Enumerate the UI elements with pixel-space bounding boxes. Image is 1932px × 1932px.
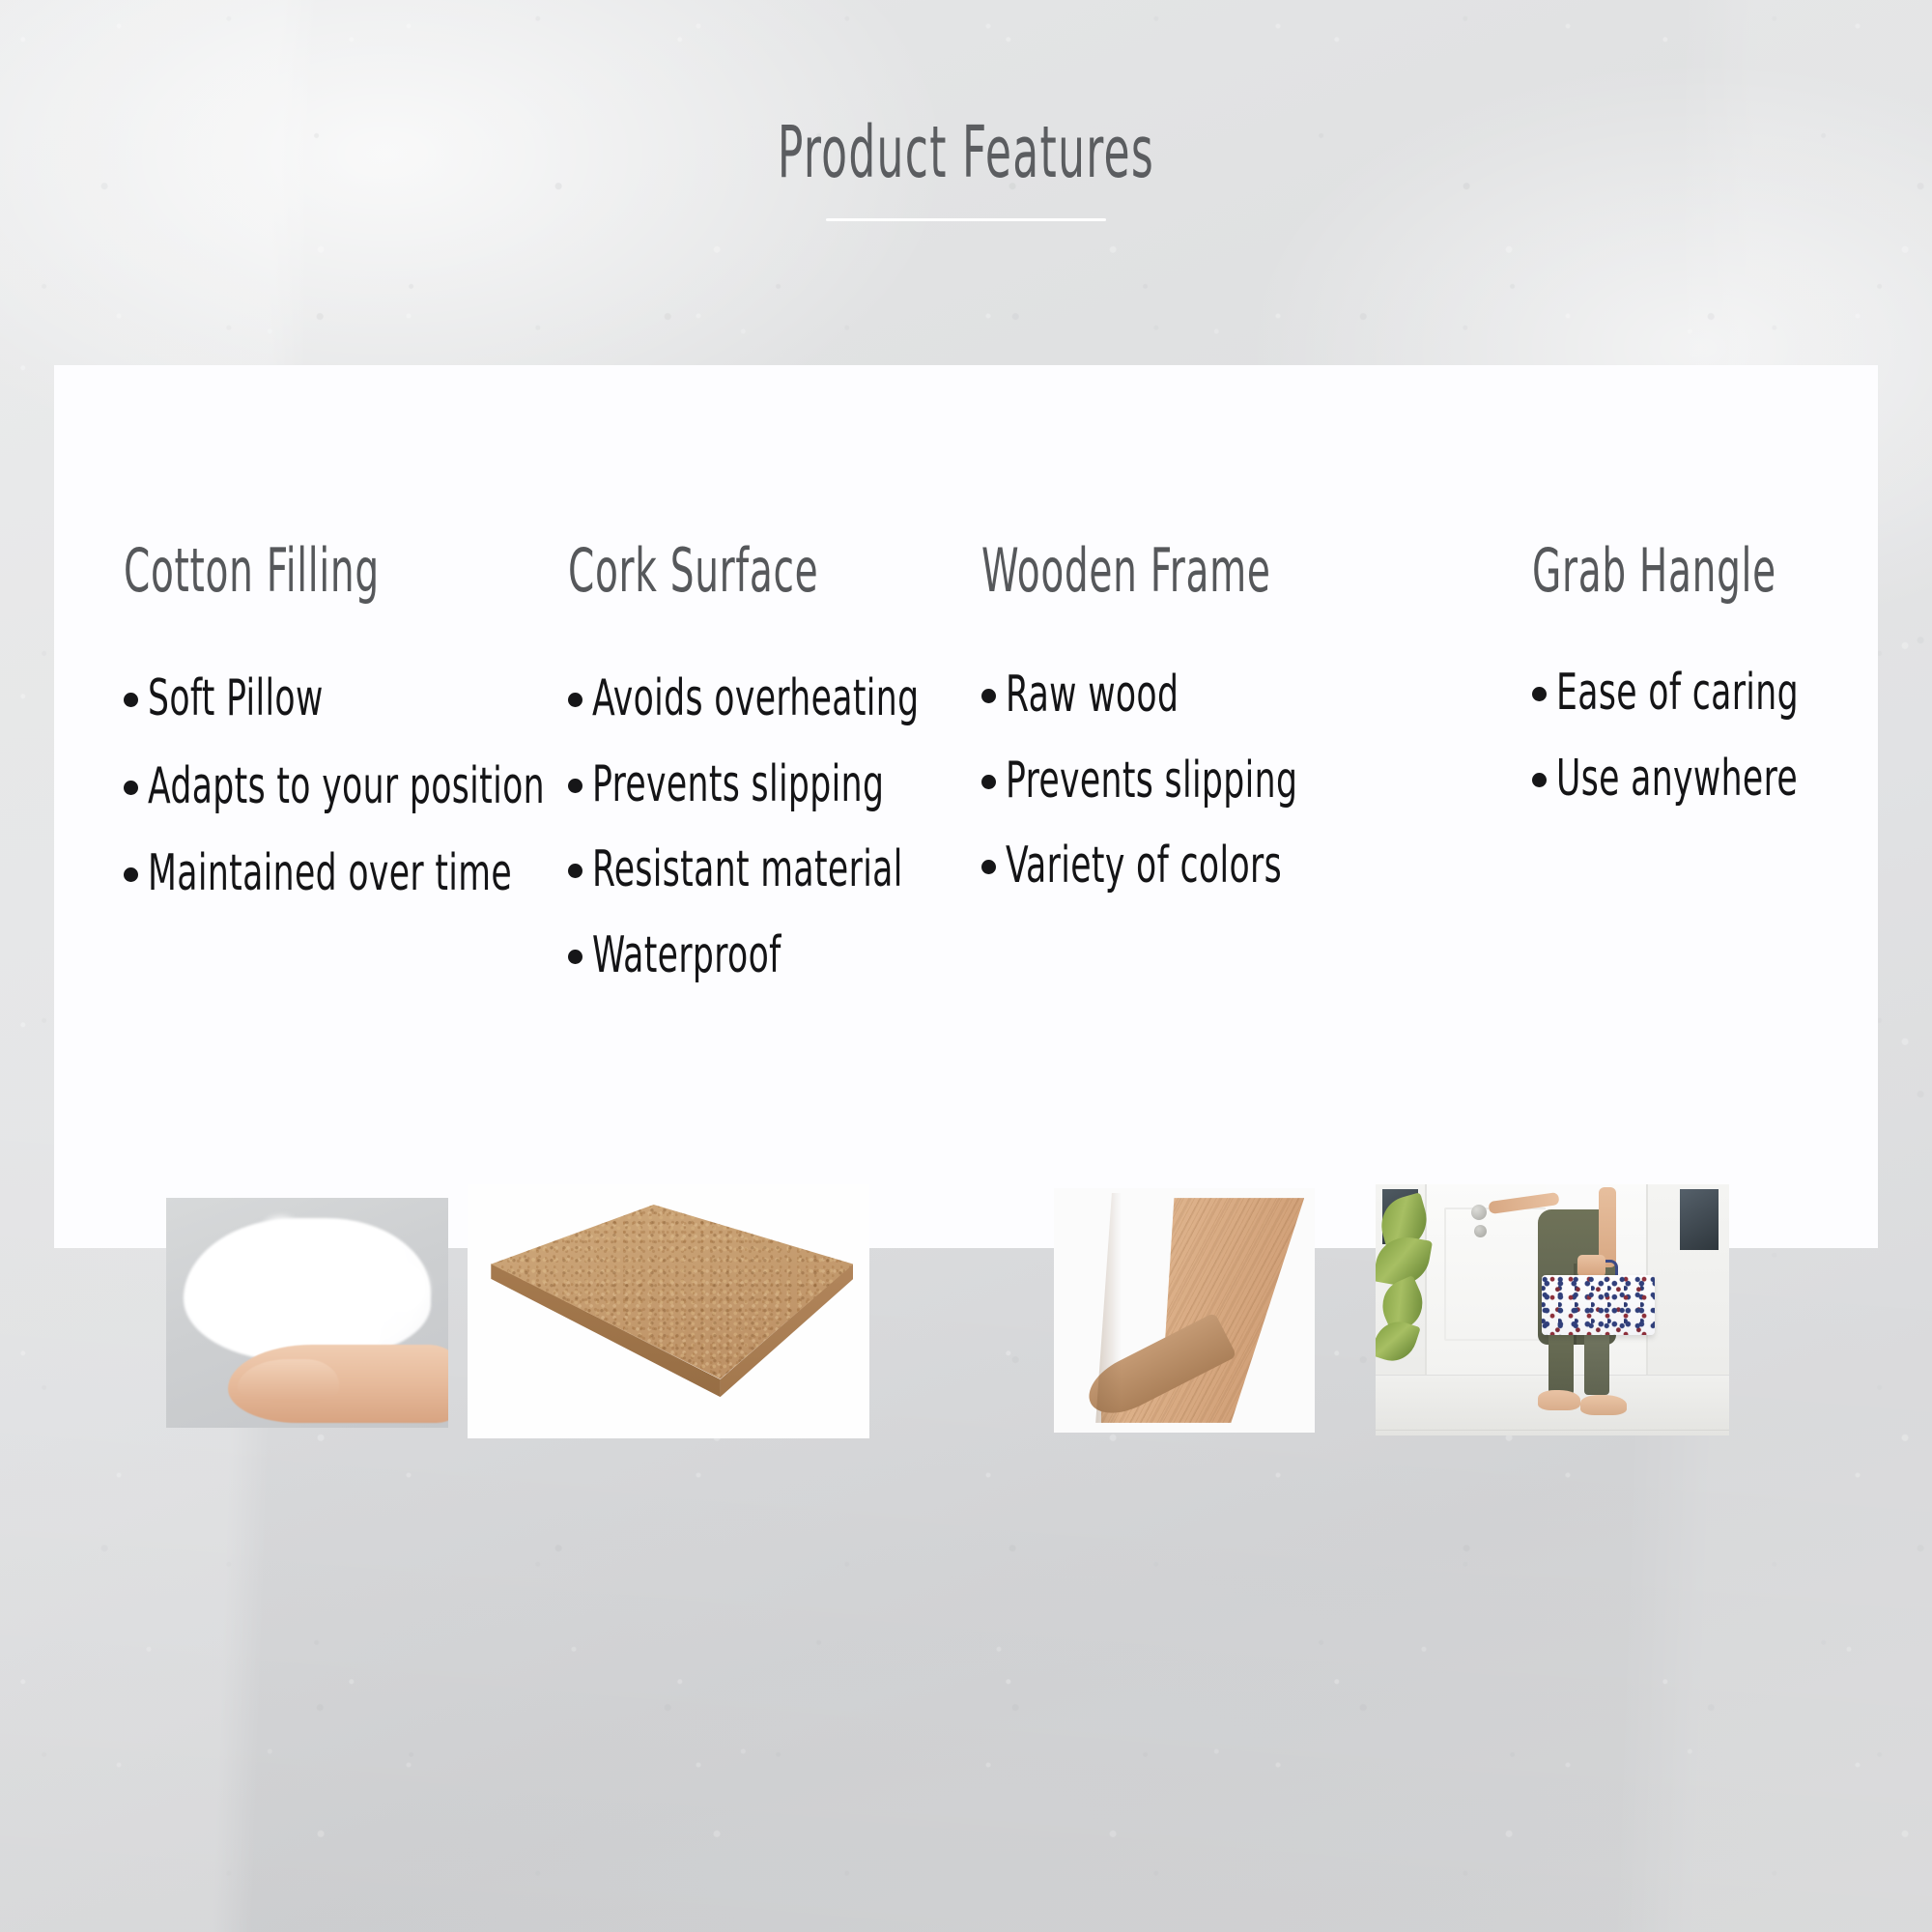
feature-title: Cotton Filling — [124, 541, 414, 601]
bullet-dot-icon — [568, 693, 582, 707]
leaf — [1376, 1316, 1421, 1368]
cotton-stuffing-shape — [184, 1218, 432, 1361]
floor-seam — [1376, 1430, 1729, 1431]
bullet-dot-icon — [1532, 687, 1547, 701]
list-item: Resistant material — [568, 843, 964, 896]
bullet-label: Waterproof — [592, 929, 781, 982]
grab-handle-photo — [1376, 1184, 1729, 1435]
feature-column-grab-handle: Grab Hangle Ease of caring Use anywhere — [1435, 541, 1878, 838]
bullet-label: Variety of colors — [1006, 839, 1282, 893]
person-hand — [1577, 1255, 1605, 1277]
list-item: Prevents slipping — [981, 754, 1418, 808]
bullet-label: Maintained over time — [148, 847, 512, 900]
bullet-dot-icon — [568, 950, 582, 964]
bullet-dot-icon — [568, 864, 582, 878]
list-item: Prevents slipping — [568, 758, 964, 811]
bullet-dot-icon — [1532, 773, 1547, 787]
cotton-filling-photo — [166, 1198, 448, 1428]
bullet-dot-icon — [981, 775, 996, 789]
feature-bullet-list: Avoids overheating Prevents slipping Res… — [568, 672, 964, 981]
patterned-bag-shape — [1542, 1275, 1655, 1335]
feature-column-cotton-filling: Cotton Filling Soft Pillow Adapts to you… — [54, 541, 556, 935]
door-knob-icon — [1471, 1205, 1487, 1220]
person-foot-right — [1580, 1395, 1627, 1415]
list-item: Raw wood — [981, 668, 1418, 722]
cork-surface-photo — [468, 1184, 869, 1438]
feature-column-cork-surface: Cork Surface Avoids overheating Prevents… — [556, 541, 981, 1014]
feature-bullet-list: Raw wood Prevents slipping Variety of co… — [981, 668, 1418, 893]
bullet-dot-icon — [568, 779, 582, 793]
window-glass-right — [1680, 1189, 1719, 1249]
bullet-label: Prevents slipping — [1006, 754, 1297, 808]
bullet-label: Soft Pillow — [148, 672, 324, 725]
bullet-label: Avoids overheating — [592, 672, 919, 725]
list-item: Adapts to your position — [124, 760, 539, 813]
person-leg-right — [1584, 1330, 1609, 1396]
feature-title: Grab Hangle — [1532, 541, 1762, 601]
list-item: Soft Pillow — [124, 672, 539, 725]
hand-shape — [228, 1345, 448, 1423]
bullet-dot-icon — [981, 689, 996, 703]
feature-bullet-list: Soft Pillow Adapts to your position Main… — [124, 672, 539, 900]
feature-title: Cork Surface — [568, 541, 845, 601]
feature-bullet-list: Ease of caring Use anywhere — [1532, 667, 1861, 805]
list-item: Variety of colors — [981, 839, 1418, 893]
person-foot-left — [1538, 1390, 1580, 1410]
feature-photo-row — [54, 1184, 1878, 1435]
bullet-label: Use anywhere — [1556, 753, 1798, 806]
page-title: Product Features — [328, 116, 1604, 191]
slide-canvas: Product Features Cotton Filling Soft Pil… — [0, 0, 1932, 1932]
person-leg-left — [1548, 1330, 1574, 1396]
wooden-frame-photo — [1054, 1188, 1315, 1433]
list-item: Maintained over time — [124, 847, 539, 900]
title-divider — [826, 218, 1106, 221]
list-item: Use anywhere — [1532, 753, 1861, 806]
list-item: Ease of caring — [1532, 667, 1861, 720]
feature-columns: Cotton Filling Soft Pillow Adapts to you… — [54, 541, 1878, 1014]
houseplant-shape — [1376, 1194, 1435, 1385]
bullet-dot-icon — [981, 860, 996, 874]
feature-title: Wooden Frame — [981, 541, 1287, 601]
bullet-label: Ease of caring — [1556, 667, 1799, 720]
title-block: Product Features — [0, 116, 1932, 221]
bullet-dot-icon — [124, 693, 138, 707]
bullet-dot-icon — [124, 867, 138, 882]
bullet-dot-icon — [124, 781, 138, 795]
list-item: Avoids overheating — [568, 672, 964, 725]
bullet-label: Resistant material — [592, 843, 903, 896]
feature-column-wooden-frame: Wooden Frame Raw wood Prevents slipping … — [981, 541, 1435, 925]
bullet-label: Adapts to your position — [148, 760, 545, 813]
list-item: Waterproof — [568, 929, 964, 982]
bullet-label: Raw wood — [1006, 668, 1179, 722]
bullet-label: Prevents slipping — [592, 758, 884, 811]
